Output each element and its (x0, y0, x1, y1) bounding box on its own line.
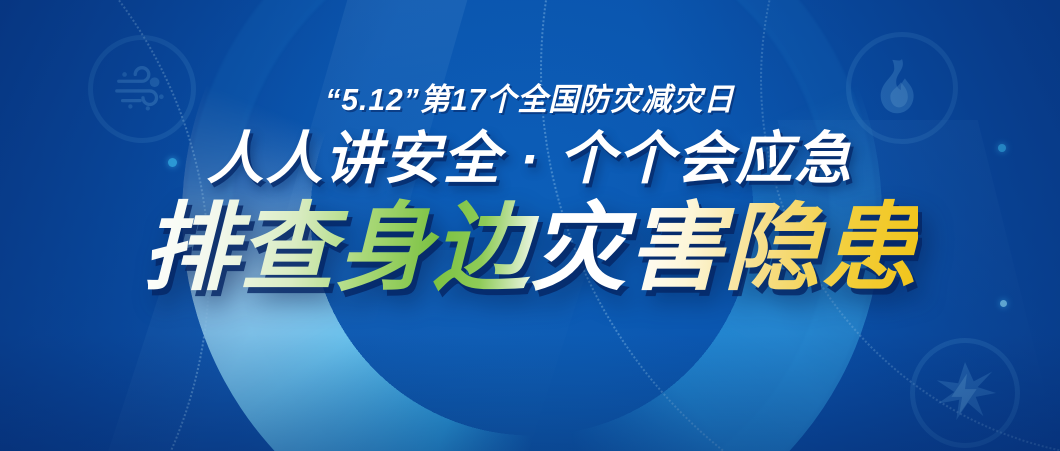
slogan-line: 人人讲安全 · 个个会应急 (207, 131, 854, 188)
subtitle-event-line: “5.12”第17个全国防灾减灾日 (325, 84, 734, 115)
headline-block: “5.12”第17个全国防灾减灾日 人人讲安全 · 个个会应急 排查身边灾害隐患 (0, 84, 1060, 300)
glow-dot-right-lower (1000, 300, 1007, 307)
disaster-prevention-day-banner: “5.12”第17个全国防灾减灾日 人人讲安全 · 个个会应急 排查身边灾害隐患 (0, 0, 1060, 451)
lightning-icon (910, 338, 1020, 448)
main-title-text: 排查身边灾害隐患 (142, 195, 918, 302)
main-title-line: 排查身边灾害隐患 (142, 198, 918, 300)
